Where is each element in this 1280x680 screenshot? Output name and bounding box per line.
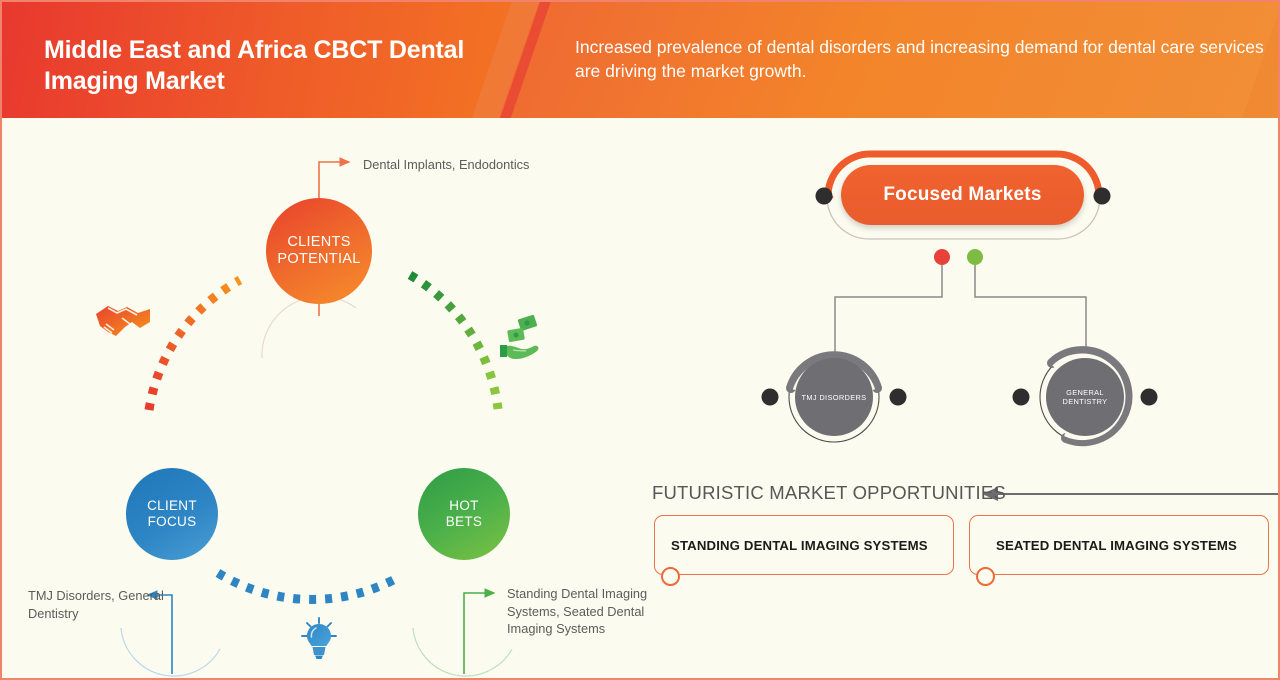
connector-left-branch [835,265,942,358]
focused-left-dot [816,188,833,205]
general-left-dot [1013,389,1030,406]
page-title: Middle East and Africa CBCT Dental Imagi… [44,35,514,96]
bubble-clients-potential-line2: POTENTIAL [277,251,360,268]
futuristic-opportunities-title: FUTURISTIC MARKET OPPORTUNITIES [652,482,1006,504]
standing-systems-label: STANDING DENTAL IMAGING SYSTEMS [655,538,928,553]
tmj-left-dot [762,389,779,406]
tmj-disorders-label: TMJ DISORDERS [802,393,867,402]
dotted-arc-orange [149,280,240,410]
bubble-hot-bets-line1: HOT [449,498,478,514]
bubble-arc-focus-outer [121,628,220,676]
dotted-arc-blue [218,573,399,599]
focused-right-dot [1094,188,1111,205]
bubble-clients-potential[interactable]: CLIENTS POTENTIAL [266,198,372,304]
money-in-hand-icon [497,314,543,367]
bubble-arc-focus-inner [124,628,218,673]
tmj-right-dot [890,389,907,406]
header-banner: Middle East and Africa CBCT Dental Imagi… [2,2,1280,118]
dotted-arc-green [410,275,498,409]
bubble-arc-hotbets-outer [413,628,512,676]
standing-systems-knob[interactable] [661,567,680,586]
green-connector-dot [967,249,983,265]
general-dentistry-node[interactable]: GENERAL DENTISTRY [1046,358,1124,436]
bubble-hot-bets[interactable]: HOT BETS [418,468,510,560]
bubble-arc-clients-inner [266,301,354,356]
bubble-arc-hotbets-inner [416,628,510,673]
connector-right-branch [975,265,1086,358]
bubble-client-focus[interactable]: CLIENT FOCUS [126,468,218,560]
bubble-clients-potential-line1: CLIENTS [287,234,350,251]
label-hot-bets: Standing Dental Imaging Systems, Seated … [507,585,672,638]
bubble-client-focus-line2: FOCUS [148,514,197,530]
tmj-disorders-node[interactable]: TMJ DISORDERS [795,358,873,436]
red-connector-dot [934,249,950,265]
seated-systems-knob[interactable] [976,567,995,586]
seated-systems-label: SEATED DENTAL IMAGING SYSTEMS [970,538,1237,553]
bubble-client-focus-line1: CLIENT [147,498,197,514]
infographic-page: Middle East and Africa CBCT Dental Imagi… [0,0,1280,680]
label-clients-potential: Dental Implants, Endodontics [363,156,593,174]
focused-markets-node[interactable]: Focused Markets [841,165,1084,225]
general-right-dot [1141,389,1158,406]
lightbulb-icon [298,614,340,665]
leader-hot-bets [464,593,494,674]
handshake-icon [92,298,154,349]
focused-markets-label: Focused Markets [883,184,1041,206]
bubble-arc-clients-outer [262,296,356,358]
general-dentistry-label: GENERAL DENTISTRY [1046,388,1124,406]
header-subtitle: Increased prevalence of dental disorders… [575,36,1265,84]
standing-systems-box[interactable]: STANDING DENTAL IMAGING SYSTEMS [654,515,954,575]
bubble-hot-bets-line2: BETS [446,514,482,530]
seated-systems-box[interactable]: SEATED DENTAL IMAGING SYSTEMS [969,515,1269,575]
label-client-focus: TMJ Disorders, General Dentistry [28,587,178,622]
